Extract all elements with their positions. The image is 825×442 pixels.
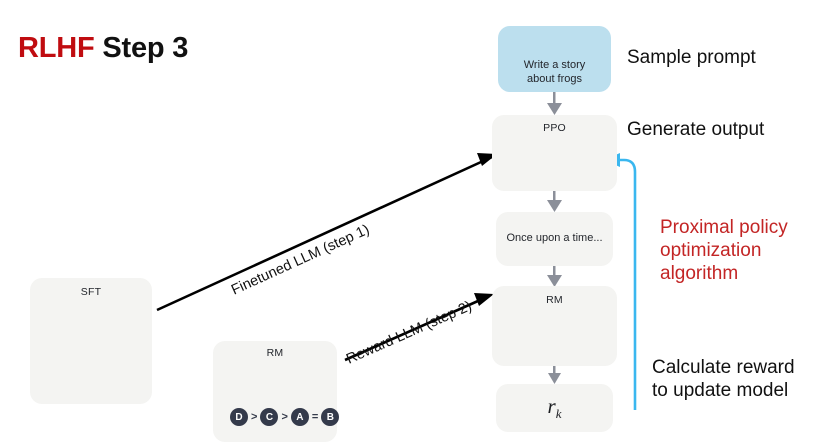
reward-box[interactable]: rk	[496, 384, 613, 432]
rank-badge-2: C	[260, 408, 278, 426]
rm-box-right[interactable]: RM	[492, 286, 617, 366]
annotation-generate-output: Generate output	[627, 118, 764, 141]
diagram-canvas: RLHF Step 3	[0, 0, 825, 442]
arrow-label-reward-llm: Reward LLM (step 2)	[344, 298, 474, 367]
rank-badge-4: B	[321, 408, 339, 426]
rank-op-3: =	[312, 411, 318, 423]
generation-text: Once upon a time...	[496, 231, 613, 245]
title-rest: Step 3	[95, 32, 189, 64]
feedback-bracket	[614, 160, 635, 410]
rank-badge-1: D	[230, 408, 248, 426]
annotation-ppo-algorithm: Proximal policy optimization algorithm	[660, 216, 788, 285]
reward-symbol: r	[548, 394, 556, 418]
generation-box[interactable]: Once upon a time...	[496, 212, 613, 266]
annotation-calculate-reward: Calculate reward to update model	[652, 356, 795, 402]
rank-op-1: >	[251, 411, 257, 423]
title-highlight: RLHF	[18, 32, 95, 64]
reward-value: rk	[496, 394, 613, 422]
ppo-label: PPO	[492, 122, 617, 134]
rank-op-2: >	[281, 411, 287, 423]
arrow-finetuned-llm	[157, 153, 497, 310]
ranking-row: D > C > A = B	[230, 408, 339, 426]
reward-subscript: k	[556, 406, 562, 421]
annotation-sample-prompt: Sample prompt	[627, 46, 756, 69]
sft-box[interactable]: SFT	[30, 278, 152, 404]
rank-badge-3: A	[291, 408, 309, 426]
rm-box-left[interactable]: RM D > C > A = B	[213, 341, 337, 442]
sft-label: SFT	[30, 286, 152, 298]
ppo-box[interactable]: PPO	[492, 115, 617, 191]
sample-prompt-text: Write a story about frogs	[498, 58, 611, 86]
page-title: RLHF Step 3	[18, 32, 188, 65]
rm-right-label: RM	[492, 294, 617, 306]
sample-prompt-box[interactable]: Write a story about frogs	[498, 26, 611, 92]
arrow-label-finetuned-llm: Finetuned LLM (step 1)	[229, 222, 372, 299]
rm-left-label: RM	[213, 347, 337, 359]
